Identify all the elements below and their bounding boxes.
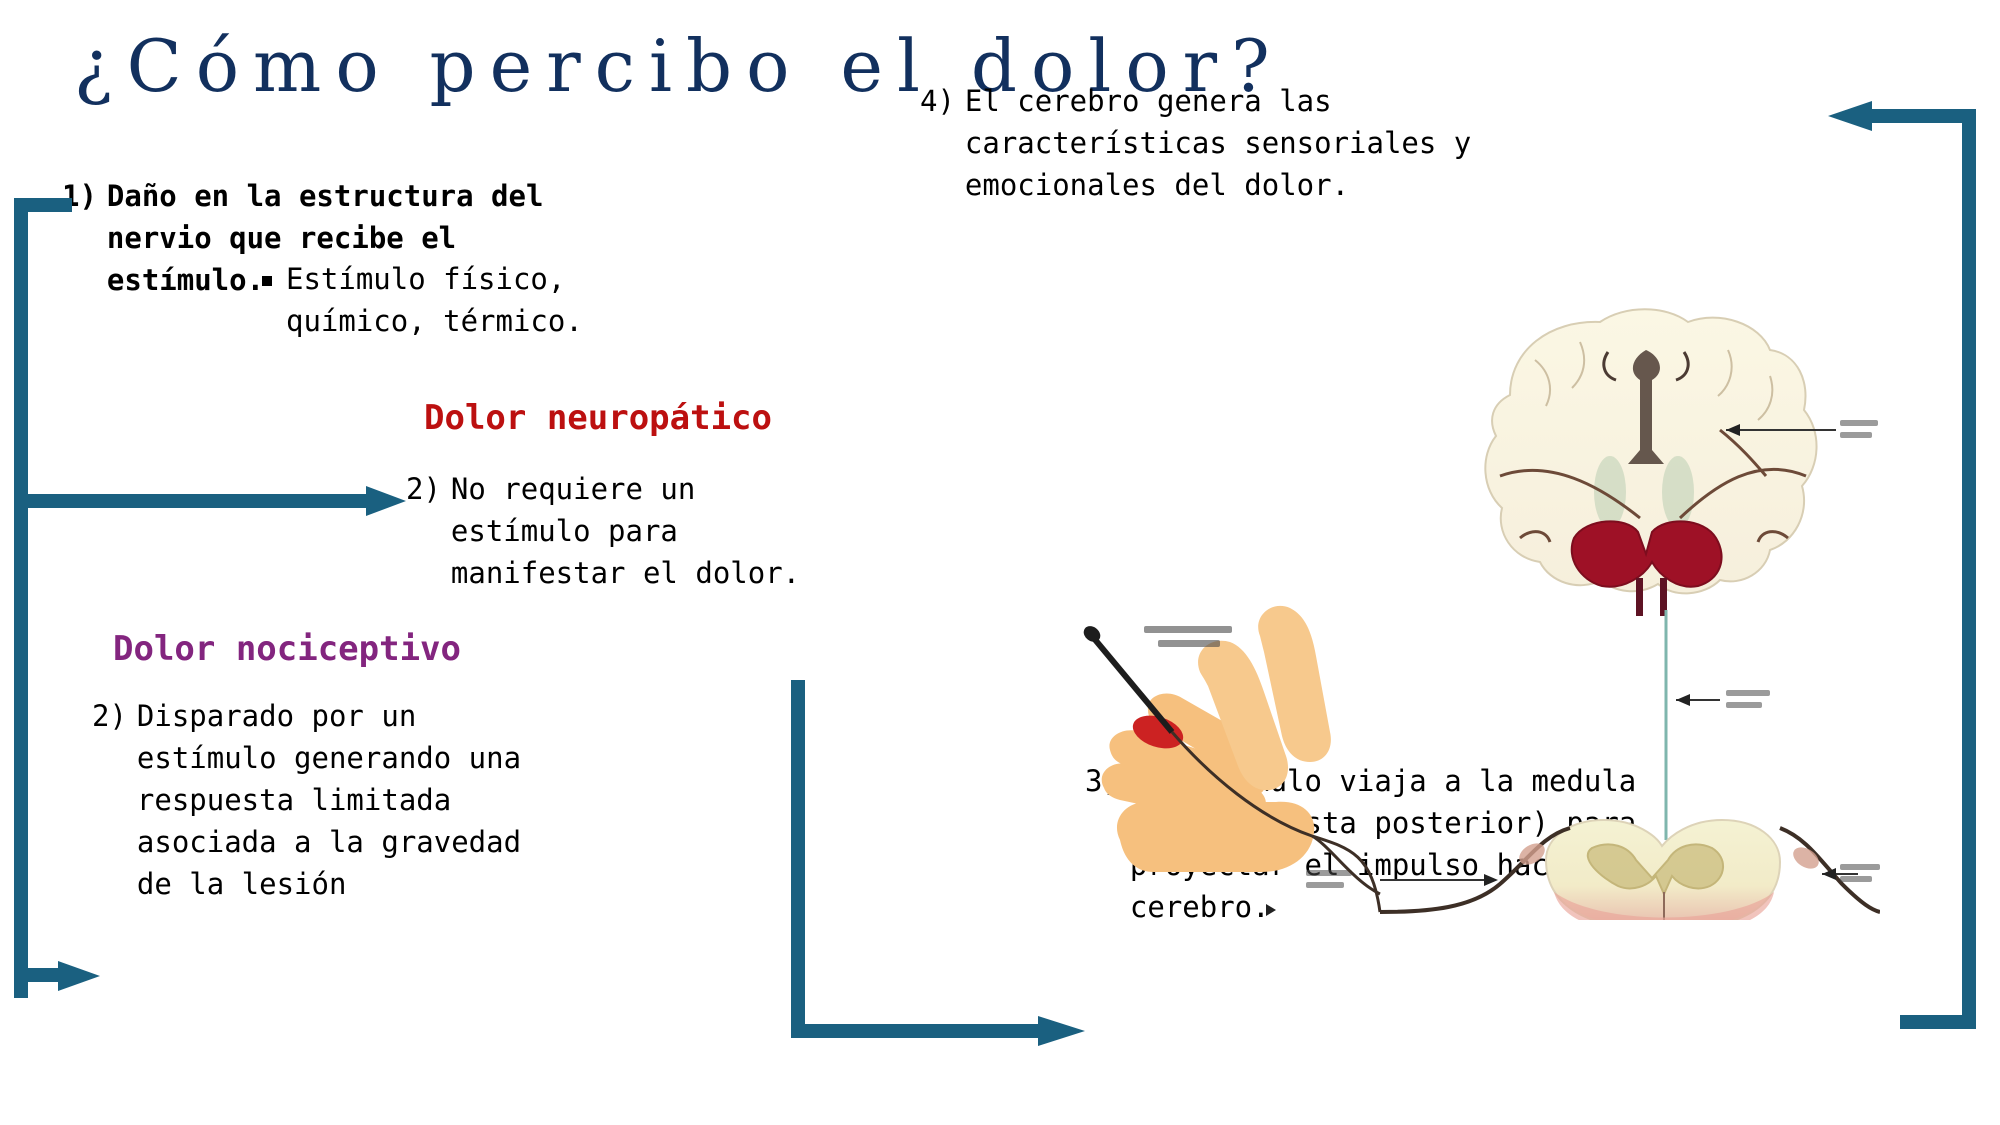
heading-dolor-neuropatico: Dolor neuropático <box>424 398 772 438</box>
connector-middle-down-right <box>780 680 1110 1060</box>
step-2-neuropathic-text-block: 2) No requiere un estímulo para manifest… <box>406 468 836 594</box>
spinal-cord-cross-section <box>1306 820 1880 920</box>
slide-canvas: ¿Cómo percibo el dolor? 4) El cerebro ge… <box>0 0 2000 1125</box>
step-4-body: El cerebro genera las características se… <box>965 80 1480 206</box>
brain-coronal-section <box>1485 309 1878 616</box>
step-4-marker: 4) <box>920 80 965 122</box>
step-4-text-block: 4) El cerebro genera las características… <box>920 80 1480 206</box>
connector-left-bracket <box>0 190 420 1020</box>
hand-with-pin <box>1081 606 1380 916</box>
pain-pathway-diagram-image <box>1080 280 1880 920</box>
step-2-neuropathic-body: No requiere un estímulo para manifestar … <box>451 468 836 594</box>
